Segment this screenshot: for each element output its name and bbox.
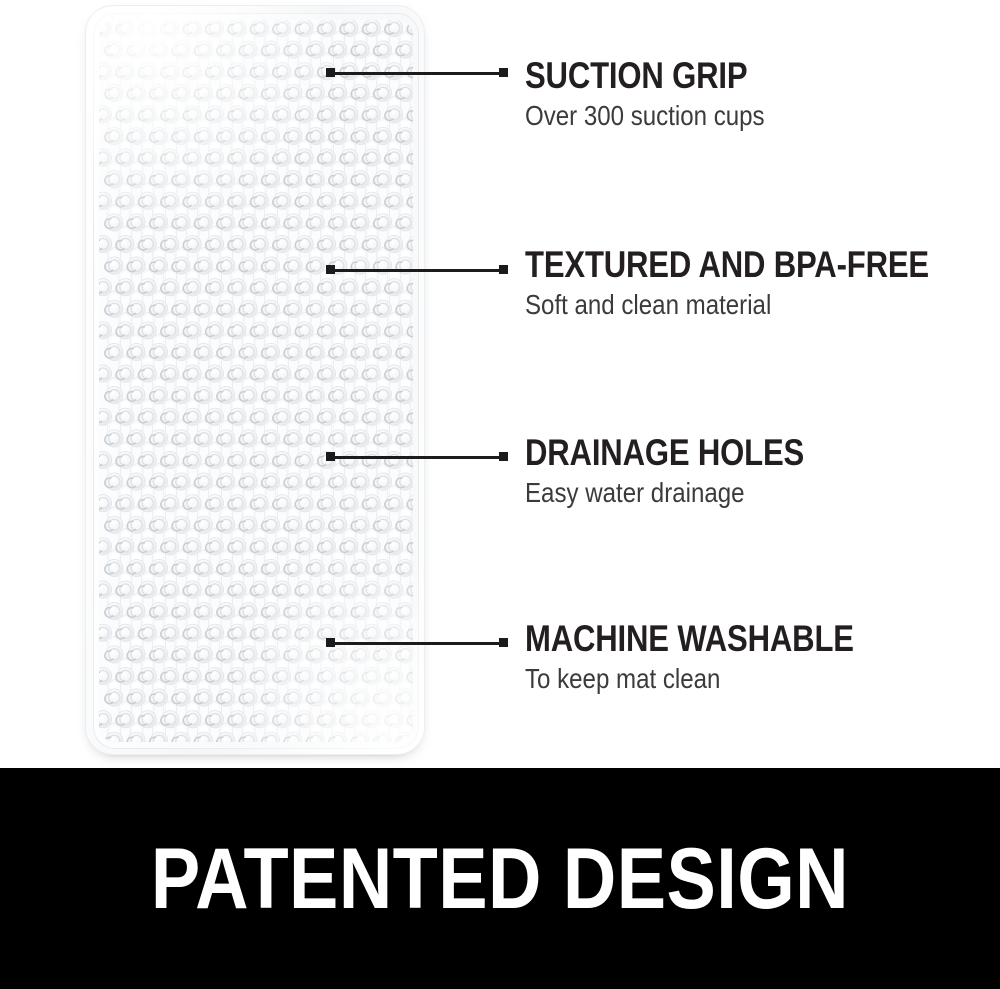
banner-title: PATENTED DESIGN: [151, 833, 849, 925]
leader-stroke: [330, 269, 504, 272]
callout-headline: SUCTION GRIP: [525, 56, 759, 96]
leader-stroke: [330, 72, 504, 75]
callout-headline: MACHINE WASHABLE: [525, 619, 854, 659]
infographic-top-section: SUCTION GRIP Over 300 suction cups TEXTU…: [0, 0, 1000, 768]
callout-subline: To keep mat clean: [525, 662, 862, 696]
leader-stroke: [330, 456, 504, 459]
callout-subline: Soft and clean material: [525, 288, 939, 322]
leader-endpoint-label-icon: [499, 68, 508, 77]
callout-headline: DRAINAGE HOLES: [525, 433, 804, 473]
suction-cup-hex-hole-pattern: [99, 20, 413, 742]
leader-endpoint-label-icon: [499, 452, 508, 461]
leader-endpoint-label-icon: [499, 265, 508, 274]
mat-texture-pattern: [99, 20, 413, 742]
leader-line-textured-bpa-free: [326, 265, 508, 275]
callout-headline: TEXTURED AND BPA-FREE: [525, 245, 929, 285]
leader-line-drainage-holes: [326, 452, 508, 462]
patented-design-banner: PATENTED DESIGN: [0, 768, 1000, 989]
leader-stroke: [330, 642, 504, 645]
callout-textured-bpa-free: TEXTURED AND BPA-FREE Soft and clean mat…: [525, 245, 1000, 322]
callout-drainage-holes: DRAINAGE HOLES Easy water drainage: [525, 433, 857, 510]
callout-subline: Easy water drainage: [525, 476, 811, 510]
leader-endpoint-label-icon: [499, 638, 508, 647]
callout-subline: Over 300 suction cups: [525, 99, 765, 133]
callout-machine-washable: MACHINE WASHABLE To keep mat clean: [525, 619, 916, 696]
leader-line-suction-grip: [326, 68, 508, 78]
leader-line-machine-washable: [326, 638, 508, 648]
callout-suction-grip: SUCTION GRIP Over 300 suction cups: [525, 56, 804, 133]
